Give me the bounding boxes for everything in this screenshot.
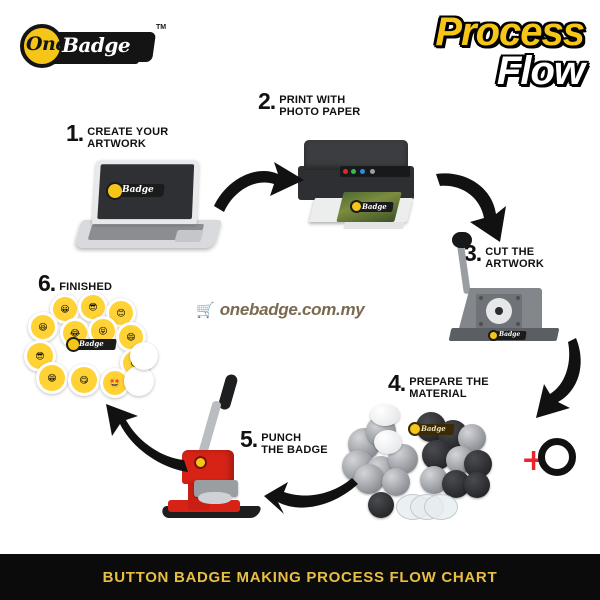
step-label-6: 6 FINISHED — [38, 274, 112, 294]
title-line-process: Process — [346, 14, 584, 50]
banner-text: BUTTON BADGE MAKING PROCESS FLOW CHART — [103, 569, 498, 586]
printer-led-green — [351, 169, 356, 174]
arrow-step5-to-step6 — [92, 402, 192, 478]
paper-stack — [343, 222, 405, 229]
trademark-mark: TM — [156, 24, 166, 31]
step-text-5: PUNCH THE BADGE — [261, 430, 328, 457]
logo-word-badge: Badge — [62, 33, 130, 57]
badge-logo-text: Badge — [79, 339, 104, 348]
mylar-film — [424, 494, 458, 520]
bottom-banner: BUTTON BADGE MAKING PROCESS FLOW CHART — [0, 554, 600, 600]
badge-face: 😁 — [39, 365, 65, 391]
badge-face: 😋 — [71, 367, 97, 393]
laptop-screen-logo-text: Badge — [122, 185, 154, 195]
printer-led-blue — [360, 169, 365, 174]
arrow-step1-to-step2 — [212, 152, 308, 224]
step-text-2: PRINT WITH PHOTO PAPER — [279, 92, 360, 119]
printed-sheet-logo-text: Badge — [362, 202, 387, 211]
logo-word-one: One — [26, 33, 67, 55]
cutter-bolt — [516, 296, 520, 300]
laptop-icon: Badge — [72, 160, 222, 252]
badge-pile-logo: Badge — [66, 334, 120, 356]
page-title: Process Flow — [346, 14, 584, 90]
printer-led-grey — [370, 169, 375, 174]
press-logo-circle-icon — [194, 456, 207, 469]
shopping-cart-icon: 🛒 — [196, 303, 215, 318]
arrow-step4-to-step5 — [264, 474, 360, 530]
watermark-text: onebadge.com.my — [220, 300, 365, 320]
materials-logo-circle-icon — [408, 422, 422, 436]
materials-logo-text: Badge — [421, 424, 446, 433]
cutter-center-hole — [495, 307, 503, 315]
back-piece — [368, 492, 394, 518]
metal-shell — [382, 468, 410, 496]
step-number-6: 6 — [38, 274, 55, 294]
badge-face: 😆 — [31, 315, 55, 339]
badge-parts-icon: Badge — [338, 398, 518, 520]
badge-shell-white — [374, 430, 402, 454]
step-label-1: 1 CREATE YOUR ARTWORK — [66, 124, 168, 151]
laptop-trackpad — [174, 230, 203, 242]
step-text-1: CREATE YOUR ARTWORK — [87, 124, 168, 151]
title-line-flow: Flow — [346, 52, 584, 90]
step-label-2: 2 PRINT WITH PHOTO PAPER — [258, 92, 360, 119]
badge-item-blank — [124, 366, 154, 396]
arrow-step3-to-step4 — [524, 336, 590, 420]
step-number-2: 2 — [258, 92, 275, 112]
press-die-lower — [198, 492, 232, 504]
cutter-logo-circle-icon — [488, 330, 499, 341]
cutter-bolt — [516, 322, 520, 326]
cutter-logo-text: Badge — [499, 331, 520, 338]
badge-item: 😆 — [28, 312, 58, 342]
badge-item: 😁 — [36, 362, 68, 394]
badge-item: 😋 — [68, 364, 100, 396]
arrow-step2-to-step3 — [432, 168, 512, 248]
onebadge-logo: One Badge TM — [14, 20, 164, 72]
process-flow-infographic: One Badge TM Process Flow 1 CREATE YOUR … — [0, 0, 600, 600]
cutter-bolt — [479, 296, 483, 300]
step-number-4: 4 — [388, 374, 405, 394]
website-watermark: 🛒 onebadge.com.my — [196, 300, 364, 320]
cutter-bolt — [479, 322, 483, 326]
circle-cutter-icon: Badge — [448, 238, 564, 350]
badge-shell-white — [370, 404, 400, 426]
back-piece — [464, 472, 490, 498]
badge-item-blank — [130, 342, 158, 370]
printer-led-red — [343, 169, 348, 174]
step-text-4: PREPARE THE MATERIAL — [409, 374, 489, 401]
logo-underline — [47, 58, 140, 64]
mylar-ring-icon — [538, 438, 576, 476]
step-label-4: 4 PREPARE THE MATERIAL — [388, 374, 489, 401]
step-text-6: FINISHED — [59, 274, 112, 293]
finished-badges-icon: 😀 😎 😊 😆 😂 😝 😄 😎 😍 😁 😋 🤩 Badge — [20, 292, 160, 394]
printer-icon: Badge — [296, 140, 418, 236]
step-number-1: 1 — [66, 124, 83, 144]
